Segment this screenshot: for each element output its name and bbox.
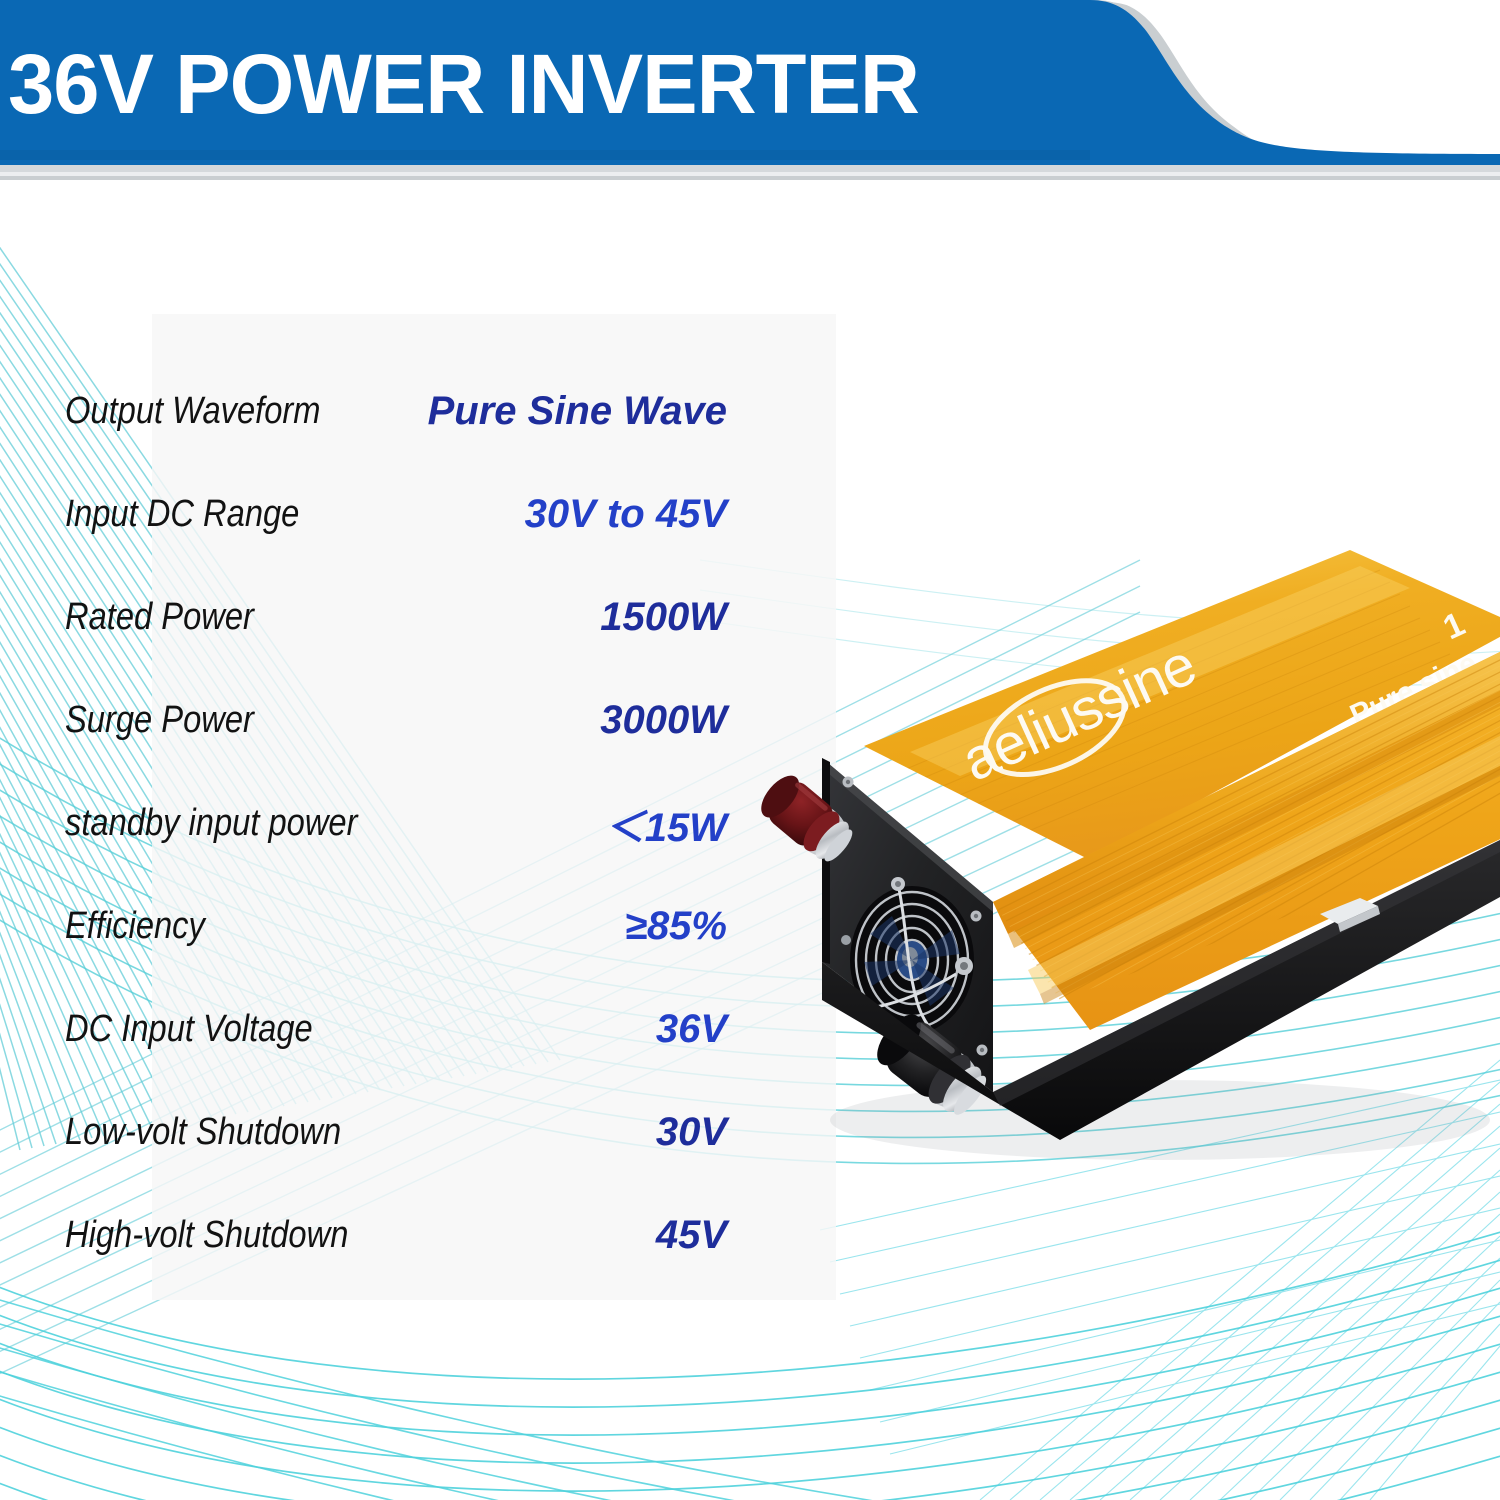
product-image-inverter: aeliussine Pure sine 1 bbox=[760, 530, 1500, 1270]
table-row: Rated Power 1500W bbox=[0, 566, 760, 669]
infographic-canvas: 36V POWER INVERTER Output Waveform Pure … bbox=[0, 0, 1500, 1500]
spec-value: Pure Sine Wave bbox=[0, 389, 727, 434]
spec-value: 30V to 45V bbox=[0, 492, 727, 537]
spec-value: 45V bbox=[0, 1213, 727, 1258]
table-row: High-volt Shutdown 45V bbox=[0, 1184, 760, 1287]
table-row: Input DC Range 30V to 45V bbox=[0, 463, 760, 566]
page-title: 36V POWER INVERTER bbox=[8, 36, 919, 133]
inverter-illustration: aeliussine Pure sine 1 bbox=[760, 530, 1500, 1270]
table-row: Efficiency ≥85% bbox=[0, 875, 760, 978]
spec-value: 3000W bbox=[0, 698, 727, 743]
table-row: Low-volt Shutdown 30V bbox=[0, 1081, 760, 1184]
table-row: DC Input Voltage 36V bbox=[0, 978, 760, 1081]
table-row: standby input power ＜15W bbox=[0, 772, 760, 875]
header-banner: 36V POWER INVERTER bbox=[0, 0, 1500, 185]
spec-value: ＜15W bbox=[0, 795, 727, 853]
table-row: Surge Power 3000W bbox=[0, 669, 760, 772]
table-row: Output Waveform Pure Sine Wave bbox=[0, 360, 760, 463]
spec-value: 30V bbox=[0, 1110, 727, 1155]
spec-value: 36V bbox=[0, 1007, 727, 1052]
spec-table: Output Waveform Pure Sine Wave Input DC … bbox=[0, 360, 760, 1287]
spec-value: 1500W bbox=[0, 595, 727, 640]
spec-value: ≥85% bbox=[0, 904, 727, 949]
